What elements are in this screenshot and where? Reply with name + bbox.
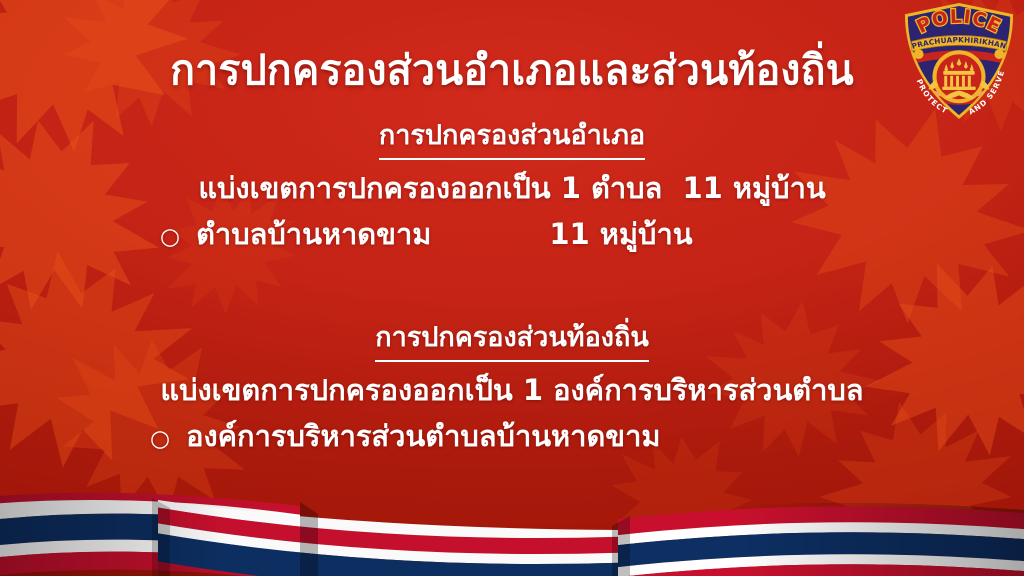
section-heading: การปกครองส่วนท้องถิ่น xyxy=(375,318,649,362)
list-item: ○ ตำบลบ้านหาดขาม 11 หมู่บ้าน xyxy=(0,213,1024,257)
slide-content: การปกครองส่วนอำเภอและส่วนท้องถิ่น การปกค… xyxy=(0,0,1024,458)
list-item-label: ตำบลบ้านหาดขาม xyxy=(196,213,431,257)
section-local-government: การปกครองส่วนท้องถิ่น แบ่งเขตการปกครองออ… xyxy=(0,318,1024,458)
section-summary: แบ่งเขตการปกครองออกเป็น 1 ตำบล 11 หมู่บ้… xyxy=(0,166,1024,211)
list-item-label: องค์การบริหารส่วนตำบลบ้านหาดขาม xyxy=(186,415,660,459)
list-item: ○ องค์การบริหารส่วนตำบลบ้านหาดขาม xyxy=(0,415,1024,459)
section-amphoe: การปกครองส่วนอำเภอ แบ่งเขตการปกครองออกเป… xyxy=(0,116,1024,256)
list-item-trailing-value: 11 หมู่บ้าน xyxy=(549,213,692,257)
thai-flag-ribbon xyxy=(0,480,1024,576)
presentation-slide: POLICE PRACHUAPKHIRIKHAN xyxy=(0,0,1024,576)
section-summary: แบ่งเขตการปกครองออกเป็น 1 องค์การบริหารส… xyxy=(0,368,1024,413)
page-title: การปกครองส่วนอำเภอและส่วนท้องถิ่น xyxy=(0,0,1024,94)
bullet-circle-icon: ○ xyxy=(150,422,170,457)
bullet-circle-icon: ○ xyxy=(160,220,180,255)
section-heading: การปกครองส่วนอำเภอ xyxy=(379,116,645,160)
